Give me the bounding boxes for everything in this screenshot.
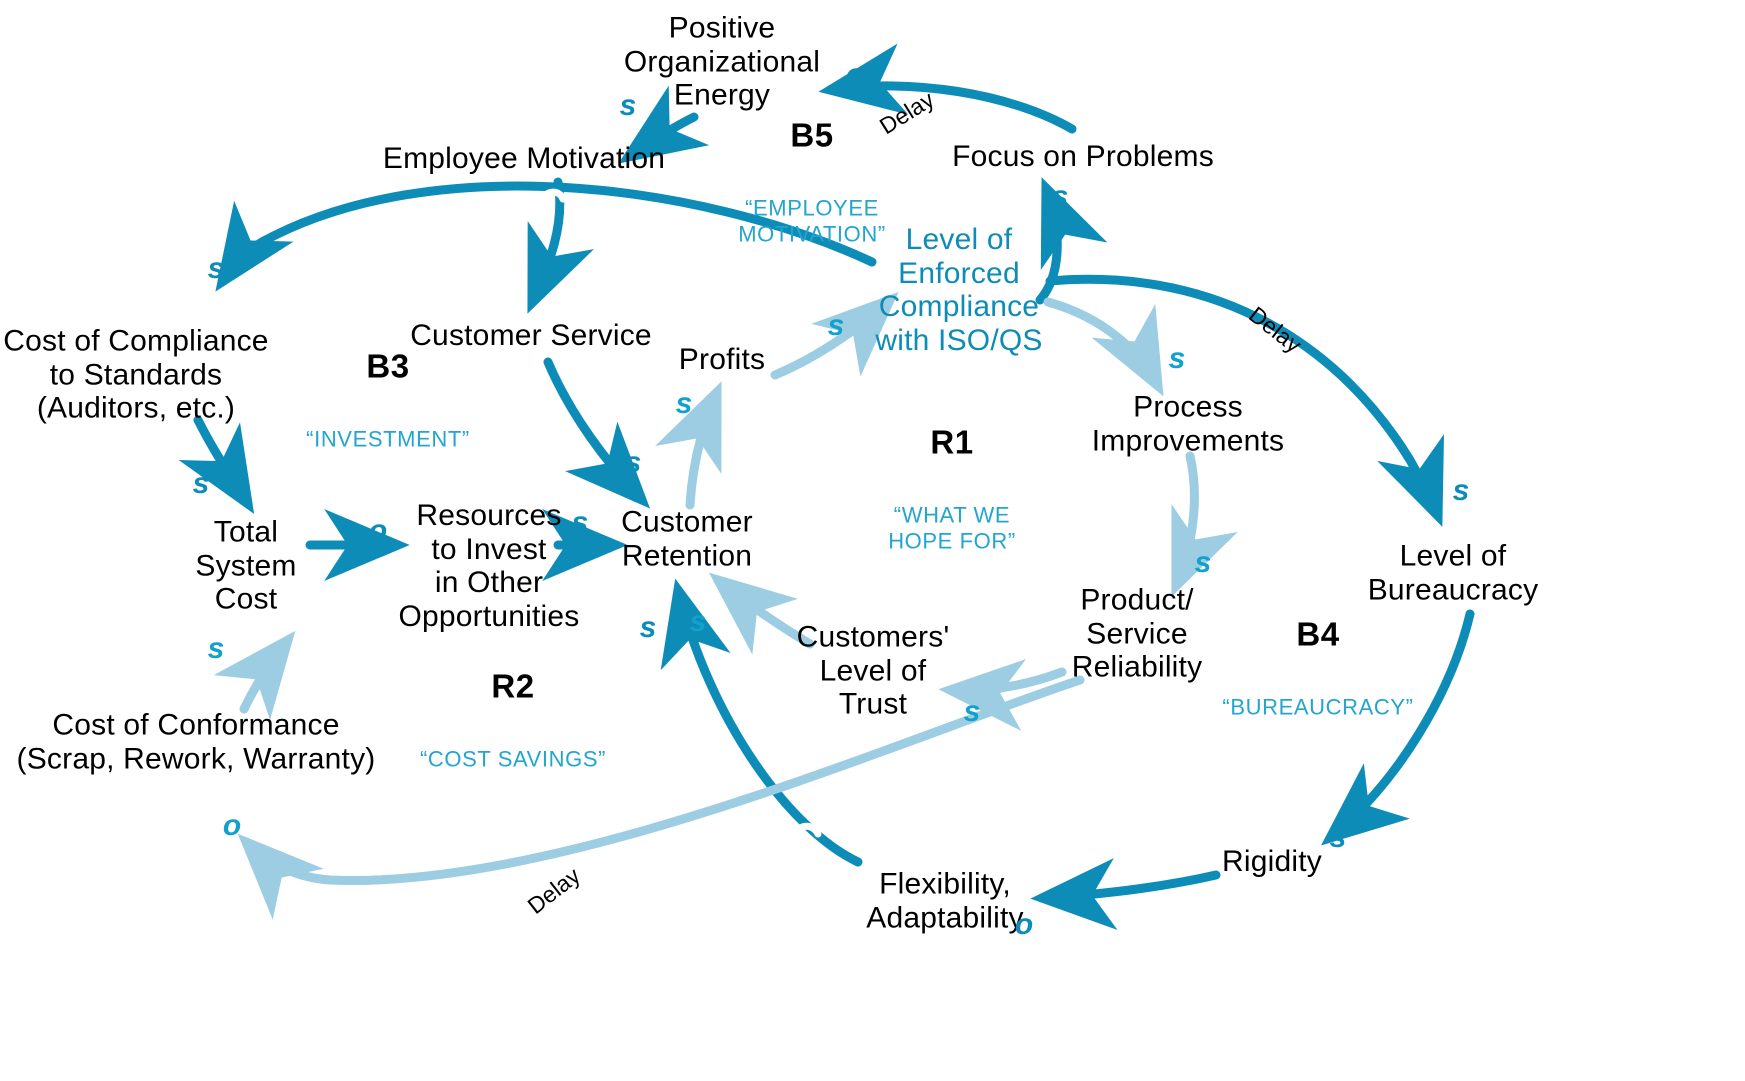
loop-code-b4: B4 [1222, 616, 1413, 654]
polarity-energy-to-motivation: s [620, 89, 637, 123]
loop-code-r1: R1 [888, 424, 1016, 462]
loop-label-b5: B5 “EMPLOYEE MOTIVATION” [738, 81, 886, 284]
polarity-bureaucracy-to-rigidity: s [1330, 821, 1347, 855]
link-conformance-to-total [244, 640, 288, 709]
polarity-resources-to-retention: s [572, 506, 589, 540]
loop-code-b3: B3 [306, 348, 470, 386]
polarity-delay-to-conformance: o [223, 809, 241, 843]
link-retention-to-profits [690, 392, 717, 505]
node-total-system-cost: Total System Cost [195, 516, 296, 617]
polarity-trust-to-retention: s [690, 605, 707, 639]
causal-loop-diagram: Positive Organizational Energy Employee … [0, 0, 1745, 1081]
polarity-focus-to-energy: o [846, 58, 864, 92]
loop-name-b4: “BUREAUCRACY” [1222, 695, 1413, 721]
node-resources-to-invest-in-other-opportunities: Resources to Invest in Other Opportuniti… [398, 499, 579, 633]
polarity-conformance-to-total: s [208, 632, 225, 666]
polarity-compliance-to-focus: s [1052, 180, 1069, 214]
node-cost-of-compliance-to-standards: Cost of Compliance to Standards (Auditor… [3, 325, 268, 426]
node-profits: Profits [679, 343, 765, 377]
loop-code-b5: B5 [738, 117, 886, 155]
polarity-cost-of-compliance-to-total: s [193, 467, 210, 501]
polarity-compliance-to-cost-of-compliance: s [208, 252, 225, 286]
polarity-bureaucracy-delay: s [1453, 474, 1470, 508]
loop-code-r2: R2 [420, 668, 606, 706]
polarity-motivation-to-service: s [537, 260, 554, 294]
link-rigidity-to-flexibility [1042, 875, 1216, 898]
node-cost-of-conformance: Cost of Conformance (Scrap, Rework, Warr… [17, 708, 376, 775]
polarity-rigidity-to-flexibility: o [1015, 908, 1033, 942]
link-compliance-to-process [1048, 302, 1158, 386]
loop-name-b5: “EMPLOYEE MOTIVATION” [738, 196, 886, 248]
loop-label-b4: B4 “BUREAUCRACY” [1222, 580, 1413, 757]
node-product-service-reliability: Product/ Service Reliability [1072, 584, 1203, 685]
node-focus-on-problems: Focus on Problems [952, 140, 1214, 174]
loop-name-b3: “INVESTMENT” [306, 427, 470, 453]
polarity-flexibility-to-retention: s [640, 611, 657, 645]
loop-name-r1: “WHAT WE HOPE FOR” [888, 503, 1016, 555]
node-level-of-enforced-compliance: Level of Enforced Compliance with ISO/QS [875, 223, 1042, 357]
node-customers-level-of-trust: Customers' Level of Trust [797, 621, 950, 722]
loop-label-r2: R2 “COST SAVINGS” [420, 632, 606, 809]
loop-label-b3: B3 “INVESTMENT” [306, 312, 470, 489]
node-rigidity: Rigidity [1222, 845, 1322, 879]
polarity-profits-to-compliance: s [828, 309, 845, 343]
polarity-total-to-resources: o [369, 514, 387, 548]
link-process-to-reliability [1176, 456, 1194, 586]
node-process-improvements: Process Improvements [1092, 390, 1284, 457]
node-customer-retention: Customer Retention [621, 505, 753, 572]
loop-name-r2: “COST SAVINGS” [420, 747, 606, 773]
node-employee-motivation: Employee Motivation [383, 142, 665, 176]
node-flexibility-adaptability: Flexibility, Adaptability [866, 867, 1024, 934]
polarity-reliability-to-trust: s [964, 695, 981, 729]
polarity-retention-to-profits: s [676, 387, 693, 421]
polarity-service-to-retention: s [625, 446, 642, 480]
loop-label-r1: R1 “WHAT WE HOPE FOR” [888, 388, 1016, 591]
polarity-compliance-to-process: s [1169, 342, 1186, 376]
polarity-process-to-reliability: s [1195, 546, 1212, 580]
